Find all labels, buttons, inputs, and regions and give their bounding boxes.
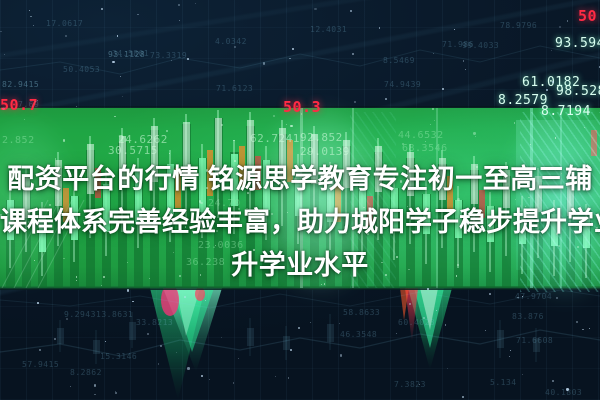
particle-dot (489, 293, 491, 295)
particle-dot (473, 132, 475, 134)
particle-dot (37, 302, 39, 304)
particle-dot (290, 349, 292, 351)
particle-dot (517, 297, 519, 299)
particle-dot (176, 352, 177, 353)
particle-dot (385, 98, 387, 100)
particle-dot (101, 8, 103, 10)
particle-dot (307, 152, 309, 154)
particle-dot (33, 25, 34, 26)
particle-dot (54, 338, 56, 340)
particle-dot (171, 60, 172, 61)
particle-dot (522, 296, 523, 297)
particle-dot (350, 10, 352, 12)
particle-dot (63, 139, 65, 141)
headline-line-2: 课程体系完善经验丰富，助力城阳学子稳步提升学业 (0, 201, 600, 244)
particle-dot (169, 153, 170, 154)
particle-dot (434, 120, 435, 121)
particle-dot (147, 333, 149, 335)
particle-dot (423, 317, 425, 319)
particle-dot (290, 125, 292, 127)
headline-line-3: 升学业水平 (0, 244, 600, 287)
particle-dot (120, 76, 121, 77)
particle-dot (301, 113, 303, 115)
particle-dot (195, 3, 196, 4)
particle-dot (209, 379, 210, 380)
particle-dot (555, 137, 556, 138)
particle-dot (187, 367, 190, 370)
particle-dot (4, 54, 5, 55)
particle-dot (340, 354, 342, 356)
particle-dot (567, 20, 568, 21)
particle-dot (39, 349, 41, 351)
particle-dot (442, 88, 444, 90)
particle-dot (205, 300, 206, 301)
particle-dot (485, 330, 486, 331)
banner-root: 93.594261.018298.5288.25798.719450.35750… (0, 0, 600, 400)
particle-dot (288, 377, 290, 379)
particle-dot (310, 322, 311, 323)
particle-dot (127, 289, 129, 291)
particle-dot (233, 140, 235, 142)
particle-dot (179, 20, 180, 21)
particle-dot (233, 382, 235, 384)
particle-dot (112, 61, 114, 63)
particle-dot (522, 374, 523, 375)
particle-dot (566, 388, 568, 390)
particle-dot (0, 31, 2, 33)
particle-dot (178, 4, 180, 6)
particle-dot (263, 62, 266, 65)
particle-dot (379, 27, 380, 28)
particle-dot (105, 341, 106, 342)
particle-dot (454, 29, 455, 30)
particle-dot (409, 303, 410, 304)
particle-dot (584, 43, 585, 44)
particle-dot (546, 89, 548, 91)
headline-line-1: 配资平台的行情 铭源思学教育专注初一至高三辅 (0, 158, 600, 201)
particle-dot (354, 101, 356, 103)
particle-dot (314, 8, 316, 10)
particle-dot (29, 10, 30, 11)
particle-dot (221, 337, 222, 338)
particle-dot (184, 296, 186, 298)
particle-dot (2, 107, 4, 109)
particle-dot (447, 368, 448, 369)
particle-dot (559, 26, 561, 28)
particle-dot (339, 323, 340, 324)
particle-dot (584, 127, 585, 128)
particle-dot (419, 384, 420, 385)
headline-text: 配资平台的行情 铭源思学教育专注初一至高三辅 课程体系完善经验丰富，助力城阳学子… (0, 158, 600, 287)
